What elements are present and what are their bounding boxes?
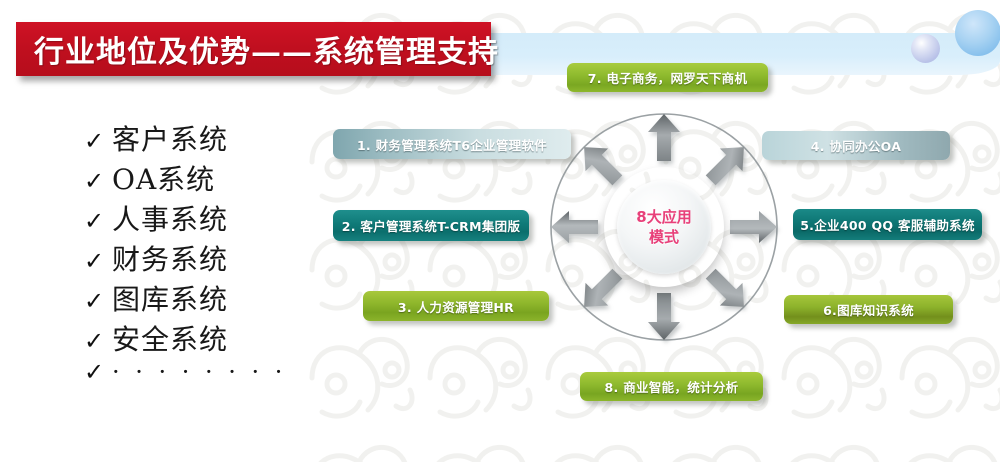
arrow-northwest (573, 136, 629, 192)
diagram-node-4[interactable]: 4. 协同办公OA (762, 131, 950, 160)
check-icon: ✓ (84, 169, 112, 193)
arrow-west (551, 211, 598, 243)
center-hub-disc: 8大应用 模式 (617, 180, 711, 274)
list-item-label: OA系统 (112, 158, 215, 198)
arrow-east (730, 211, 777, 243)
diagram-node-3-label: 3. 人力资源管理HR (398, 297, 514, 316)
list-item-label: · · · · · · · · (112, 358, 286, 386)
list-item: ✓ 财务系统 (84, 238, 314, 278)
arrow-southeast (699, 262, 755, 318)
arrow-north (648, 114, 680, 161)
check-icon: ✓ (84, 129, 112, 153)
list-item: ✓ 图库系统 (84, 278, 314, 318)
list-item-label: 客户系统 (112, 118, 228, 158)
center-hub-line1: 8大应用 (636, 208, 691, 226)
diagram-node-2[interactable]: 2. 客户管理系统T-CRM集团版 (333, 210, 529, 241)
diagram-node-7[interactable]: 7. 电子商务，网罗天下商机 (567, 63, 768, 92)
list-item-label: 财务系统 (112, 238, 228, 278)
list-item: ✓ OA系统 (84, 158, 314, 198)
diagram-node-6-label: 6.图库知识系统 (823, 300, 914, 319)
list-item-label: 安全系统 (112, 318, 228, 358)
arrow-northeast (699, 136, 755, 192)
list-item-label: 图库系统 (112, 278, 228, 318)
diagram-node-6[interactable]: 6.图库知识系统 (784, 295, 953, 324)
diagram-node-5-label: 5.企业400 QQ 客服辅助系统 (800, 215, 975, 234)
list-item: ✓ 安全系统 (84, 318, 314, 358)
diagram-node-1[interactable]: 1. 财务管理系统T6企业管理软件 (333, 129, 571, 159)
check-icon: ✓ (84, 289, 112, 313)
diagram-node-1-label: 1. 财务管理系统T6企业管理软件 (357, 135, 547, 154)
center-hub-label: 8大应用 模式 (636, 207, 691, 247)
check-icon: ✓ (84, 329, 112, 353)
list-item-label: 人事系统 (112, 198, 228, 238)
list-item: ✓ · · · · · · · · (84, 358, 314, 398)
diagram-node-8-label: 8. 商业智能，统计分析 (605, 377, 739, 396)
arrow-south (648, 293, 680, 340)
check-icon: ✓ (84, 360, 112, 384)
center-hub-line2: 模式 (649, 228, 679, 246)
list-item: ✓ 客户系统 (84, 118, 314, 158)
diagram-node-8[interactable]: 8. 商业智能，统计分析 (580, 372, 763, 401)
diagram-node-2-label: 2. 客户管理系统T-CRM集团版 (342, 216, 521, 235)
arrow-southwest (573, 262, 629, 318)
check-icon: ✓ (84, 249, 112, 273)
diagram-node-5[interactable]: 5.企业400 QQ 客服辅助系统 (793, 209, 982, 240)
slide-canvas: 行业地位及优势——系统管理支持 ✓ 客户系统 ✓ OA系统 ✓ 人事系统 ✓ 财… (0, 0, 1000, 462)
list-item: ✓ 人事系统 (84, 198, 314, 238)
diagram-node-4-label: 4. 协同办公OA (811, 136, 901, 155)
check-icon: ✓ (84, 209, 112, 233)
system-bullet-list: ✓ 客户系统 ✓ OA系统 ✓ 人事系统 ✓ 财务系统 ✓ 图库系统 ✓ 安全系… (84, 118, 314, 398)
diagram-node-3[interactable]: 3. 人力资源管理HR (363, 291, 549, 321)
diagram-node-7-label: 7. 电子商务，网罗天下商机 (588, 68, 748, 87)
